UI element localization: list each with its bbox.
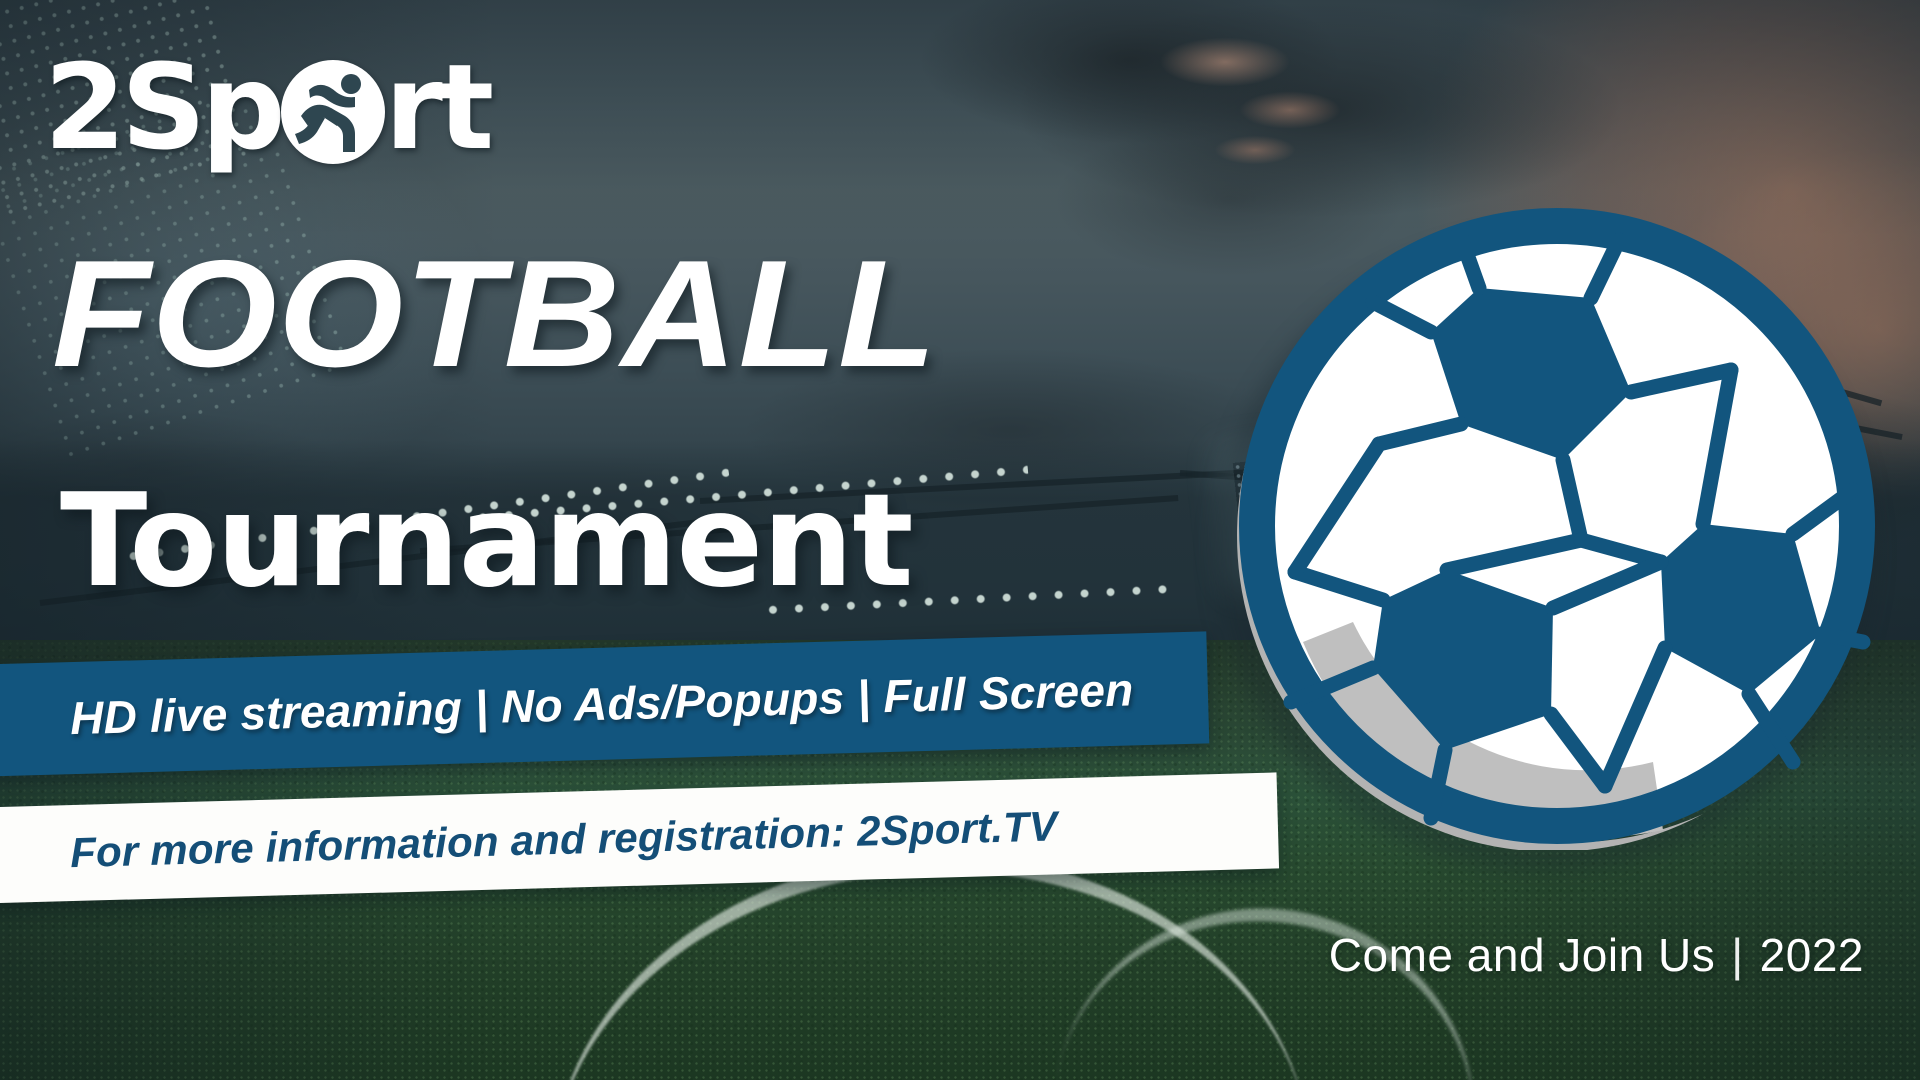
headline-secondary: Tournament [60,478,913,606]
logo-text-pre: 2Sp [44,48,281,166]
features-bar-text: HD live streaming | No Ads/Popups | Full… [69,662,1134,745]
soccer-ball-icon [1233,202,1881,850]
tagline-separator: | [1731,928,1743,982]
brand-logo[interactable]: 2Sprt [44,42,489,172]
logo-o-letter [281,60,385,164]
footer-tagline: Come and Join Us | 2022 [1329,928,1864,982]
promo-banner: 2Sprt FOOTBALL Tournament HD live stream… [0,0,1920,1080]
headline-primary: FOOTBALL [52,238,938,390]
logo-wordmark: 2Sprt [44,48,489,166]
logo-text-post: rt [385,48,490,166]
running-figure-icon [281,60,385,164]
tagline-text: Come and Join Us [1329,928,1715,982]
registration-bar-text: For more information and registration: 2… [70,802,1058,877]
tagline-year: 2022 [1760,928,1864,982]
